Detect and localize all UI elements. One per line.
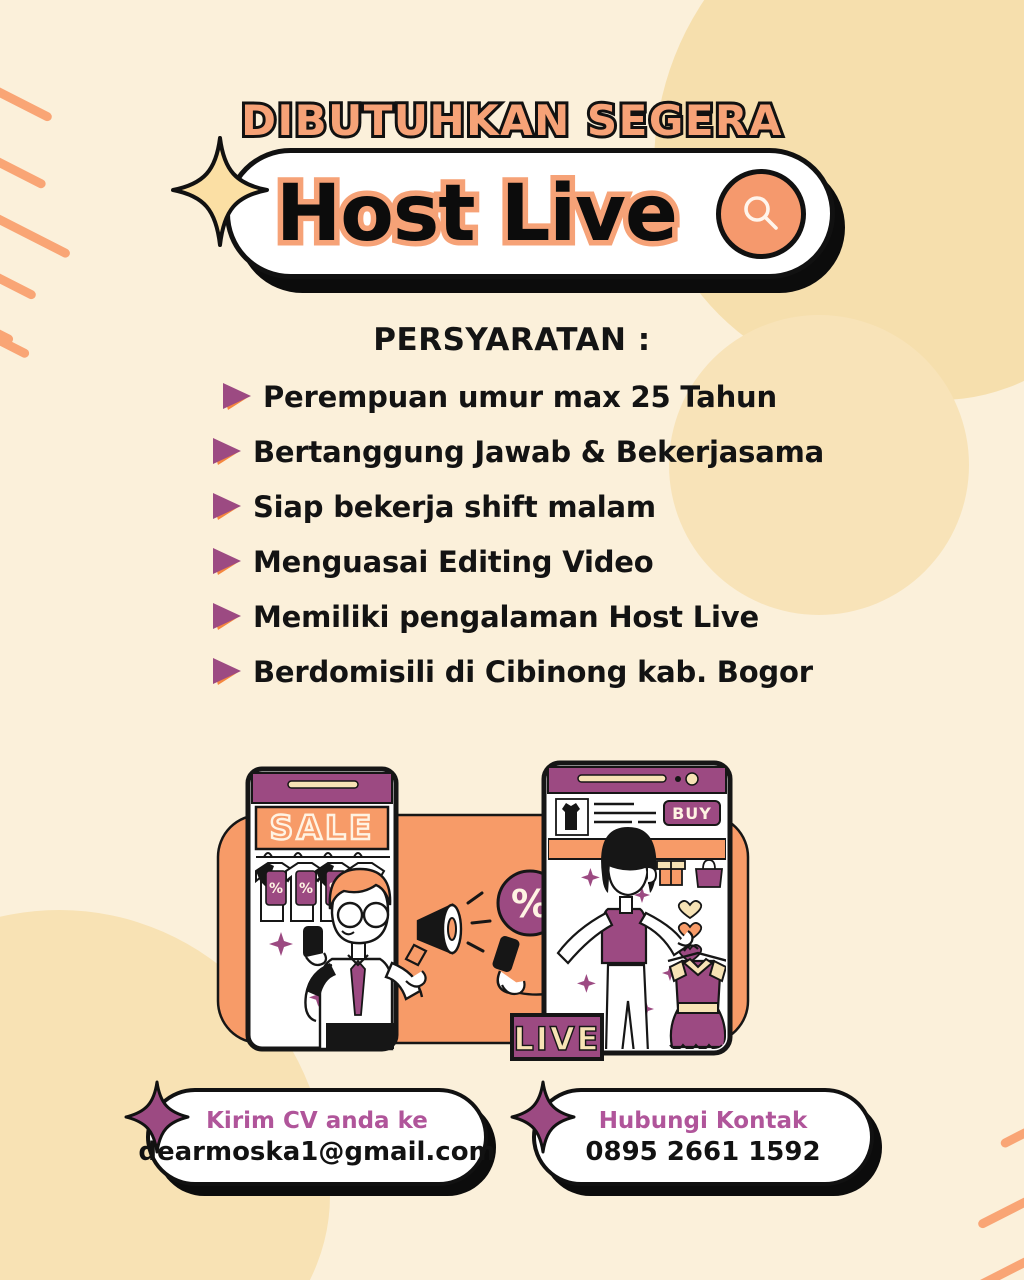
list-item-label: Bertanggung Jawab & Bekerjasama [253,435,824,469]
card-title: Hubungi Kontak [599,1108,808,1134]
discount-tag: % [266,871,286,905]
contact-row: Kirim CV anda ke dearmoska1@gmail.com Hu… [0,1088,1024,1208]
requirements-heading: PERSYARATAN : [0,322,1024,358]
phone-right: BUY [544,763,730,1053]
title-searchbar: Host Live [225,148,845,293]
poster-canvas: DIBUTUHKAN SEGERA Host Live PERSYARATAN … [0,0,1024,1280]
page-title: Host Live [230,175,716,253]
requirements-list: Perempuan umur max 25 Tahun Bertanggung … [208,370,928,700]
contact-card-phone[interactable]: Hubungi Kontak 0895 2661 1592 [532,1088,884,1196]
list-item-label: Menguasai Editing Video [253,545,653,579]
play-triangle-icon [208,655,244,689]
card-body[interactable]: Kirim CV anda ke dearmoska1@gmail.com [146,1088,488,1186]
buy-button-label: BUY [672,804,712,823]
svg-text:%: % [269,881,283,897]
list-item-label: Perempuan umur max 25 Tahun [263,380,777,414]
list-item: Perempuan umur max 25 Tahun [208,370,928,424]
list-item: Berdomisili di Cibinong kab. Bogor [208,645,928,699]
discount-tag: % [296,871,316,905]
card-value[interactable]: dearmoska1@gmail.com [138,1137,495,1167]
search-button[interactable] [716,169,806,259]
live-badge: LIVE [512,1015,602,1059]
card-body[interactable]: Hubungi Kontak 0895 2661 1592 [532,1088,874,1186]
searchbar[interactable]: Host Live [225,148,835,279]
list-item: Memiliki pengalaman Host Live [208,590,928,644]
search-icon [737,190,785,238]
live-badge-label: LIVE [514,1020,601,1058]
play-triangle-icon [208,545,244,579]
gift-icon [657,861,685,885]
list-item-label: Memiliki pengalaman Host Live [253,600,759,634]
card-title: Kirim CV anda ke [206,1108,428,1134]
kicker-headline: DIBUTUHKAN SEGERA [0,96,1024,145]
sparkle-icon [510,1080,576,1154]
list-item: Menguasai Editing Video [208,535,928,589]
sparkle-icon [170,136,270,248]
list-item-label: Berdomisili di Cibinong kab. Bogor [253,655,813,689]
contact-card-email[interactable]: Kirim CV anda ke dearmoska1@gmail.com [146,1088,498,1196]
card-value[interactable]: 0895 2661 1592 [585,1137,820,1167]
svg-text:%: % [299,881,313,897]
list-item-label: Siap bekerja shift malam [253,490,656,524]
list-item: Bertanggung Jawab & Bekerjasama [208,425,928,479]
buy-button: BUY [664,801,720,825]
illustration-live-shopping: SALE [200,745,824,1085]
play-triangle-icon [208,490,244,524]
play-triangle-icon [208,600,244,634]
play-triangle-icon [218,380,254,414]
play-triangle-icon [208,435,244,469]
sparkle-icon [124,1080,190,1154]
sale-banner-text: SALE [270,808,375,847]
list-item: Siap bekerja shift malam [208,480,928,534]
